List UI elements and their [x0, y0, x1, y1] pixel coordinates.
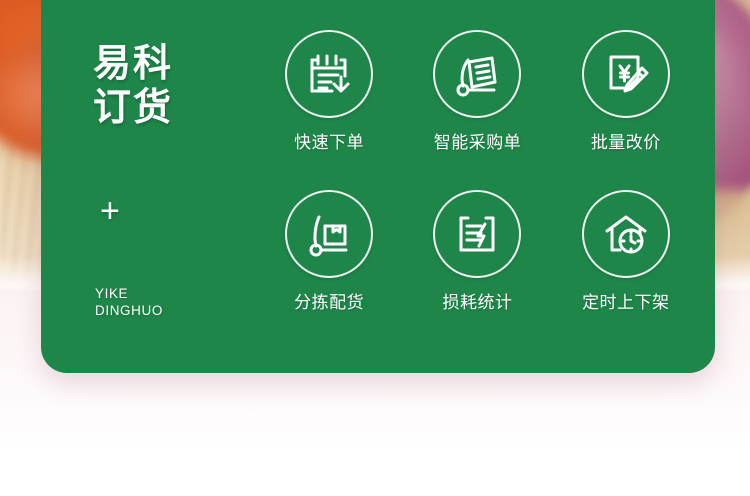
feature-item-loss-statistics[interactable]: 损耗统计: [403, 190, 551, 350]
feature-label: 批量改价: [591, 133, 661, 153]
feature-grid: 快速下单 智能采购单: [255, 30, 700, 350]
feature-label: 定时上下架: [582, 293, 670, 313]
feature-item-scheduled-shelf[interactable]: 定时上下架: [552, 190, 700, 350]
brand-block: 易科 订货 + YIKE DINGHUO: [93, 42, 243, 130]
feature-label: 损耗统计: [442, 293, 512, 313]
brand-pinyin: YIKE DINGHUO: [95, 285, 163, 319]
feature-label: 快速下单: [294, 133, 364, 153]
yuan-document-pencil-icon: [582, 30, 670, 118]
promo-banner: 易科 订货 + YIKE DINGHUO: [0, 0, 750, 496]
feature-item-sorting-delivery[interactable]: 分拣配货: [255, 190, 403, 350]
feature-item-batch-price[interactable]: 批量改价: [552, 30, 700, 190]
feature-label: 智能采购单: [434, 133, 522, 153]
hand-truck-box-icon: [285, 190, 373, 278]
document-search-icon: [433, 30, 521, 118]
plus-icon: +: [100, 194, 120, 228]
feature-item-smart-purchase[interactable]: 智能采购单: [403, 30, 551, 190]
brand-title: 易科 订货: [93, 42, 243, 130]
clipboard-download-icon: [285, 30, 373, 118]
document-bolt-icon: [433, 190, 521, 278]
warehouse-clock-icon: [582, 190, 670, 278]
feature-item-quick-order[interactable]: 快速下单: [255, 30, 403, 190]
feature-label: 分拣配货: [294, 293, 364, 313]
